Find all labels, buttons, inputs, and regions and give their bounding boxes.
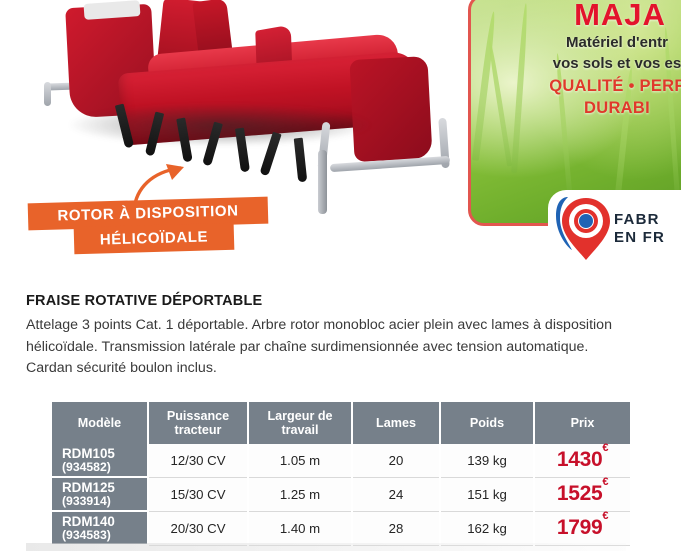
price-currency: € (602, 442, 608, 454)
cell-model: RDM140 (934583) (52, 511, 148, 545)
cell-blades: 24 (352, 477, 440, 511)
cell-blades: 20 (352, 444, 440, 477)
cell-price: 1430€ (534, 444, 630, 477)
cell-model: RDM125 (933914) (52, 477, 148, 511)
table-row: RDM140 (934583) 20/30 CV 1.40 m 28 162 k… (52, 511, 630, 545)
cell-width: 1.05 m (248, 444, 352, 477)
cell-blades: 28 (352, 511, 440, 545)
column-header-model: Modèle (52, 402, 148, 444)
cell-model: RDM105 (934582) (52, 444, 148, 477)
promo-subline-1: Matériel d'entr (527, 32, 681, 54)
cell-weight: 151 kg (440, 477, 534, 511)
cell-price: 1525€ (534, 477, 630, 511)
cell-weight: 162 kg (440, 511, 534, 545)
footer-cutoff-strip (26, 543, 626, 551)
promo-claim-2: DURABI (527, 97, 681, 119)
table-row: RDM105 (934582) 12/30 CV 1.05 m 20 139 k… (52, 444, 630, 477)
specifications-table: Modèle Puissance tracteur Largeur de tra… (52, 402, 630, 546)
table-header-row: Modèle Puissance tracteur Largeur de tra… (52, 402, 630, 444)
made-in-france-badge: FABR EN FR (548, 190, 681, 268)
made-in-france-line-2: EN FR (614, 229, 665, 247)
cell-weight: 139 kg (440, 444, 534, 477)
price-amount: 1525 (557, 482, 603, 505)
cell-power: 15/30 CV (148, 477, 248, 511)
cell-power: 12/30 CV (148, 444, 248, 477)
product-photo (0, 0, 470, 215)
column-header-price: Prix (534, 402, 630, 444)
column-header-power: Puissance tracteur (148, 402, 248, 444)
promo-text-block: MAJA Matériel d'entr vos sols et vos es … (471, 0, 681, 120)
made-in-france-line-1: FABR (614, 211, 665, 229)
made-in-france-text: FABR EN FR (614, 211, 665, 246)
column-header-width: Largeur de travail (248, 402, 352, 444)
cell-price: 1799€ (534, 511, 630, 545)
cell-width: 1.40 m (248, 511, 352, 545)
price-currency: € (602, 510, 608, 522)
catalog-page: ROTOR À DISPOSITION HÉLICOÏDALE MAJA Mat… (0, 0, 681, 552)
france-map-pin-icon (548, 194, 610, 264)
price-currency: € (602, 476, 608, 488)
column-header-blades: Lames (352, 402, 440, 444)
cell-power: 20/30 CV (148, 511, 248, 545)
promo-subline-2: vos sols et vos es (527, 53, 681, 75)
cell-width: 1.25 m (248, 477, 352, 511)
rotary-tiller-illustration (0, 0, 470, 215)
support-post (318, 150, 327, 214)
feature-callout: ROTOR À DISPOSITION HÉLICOÏDALE (22, 196, 282, 258)
column-header-weight: Poids (440, 402, 534, 444)
price-amount: 1430 (557, 448, 603, 471)
callout-line-2: HÉLICOÏDALE (74, 223, 235, 254)
promo-brand: MAJA (533, 0, 681, 32)
promo-claim-1: QUALITÉ • PERF (527, 75, 681, 97)
table-row: RDM125 (933914) 15/30 CV 1.25 m 24 151 k… (52, 477, 630, 511)
frame-bar (44, 82, 51, 106)
product-title: FRAISE ROTATIVE DÉPORTABLE (26, 293, 262, 309)
price-amount: 1799 (557, 516, 603, 539)
product-description: Attelage 3 points Cat. 1 déportable. Arb… (26, 315, 614, 380)
